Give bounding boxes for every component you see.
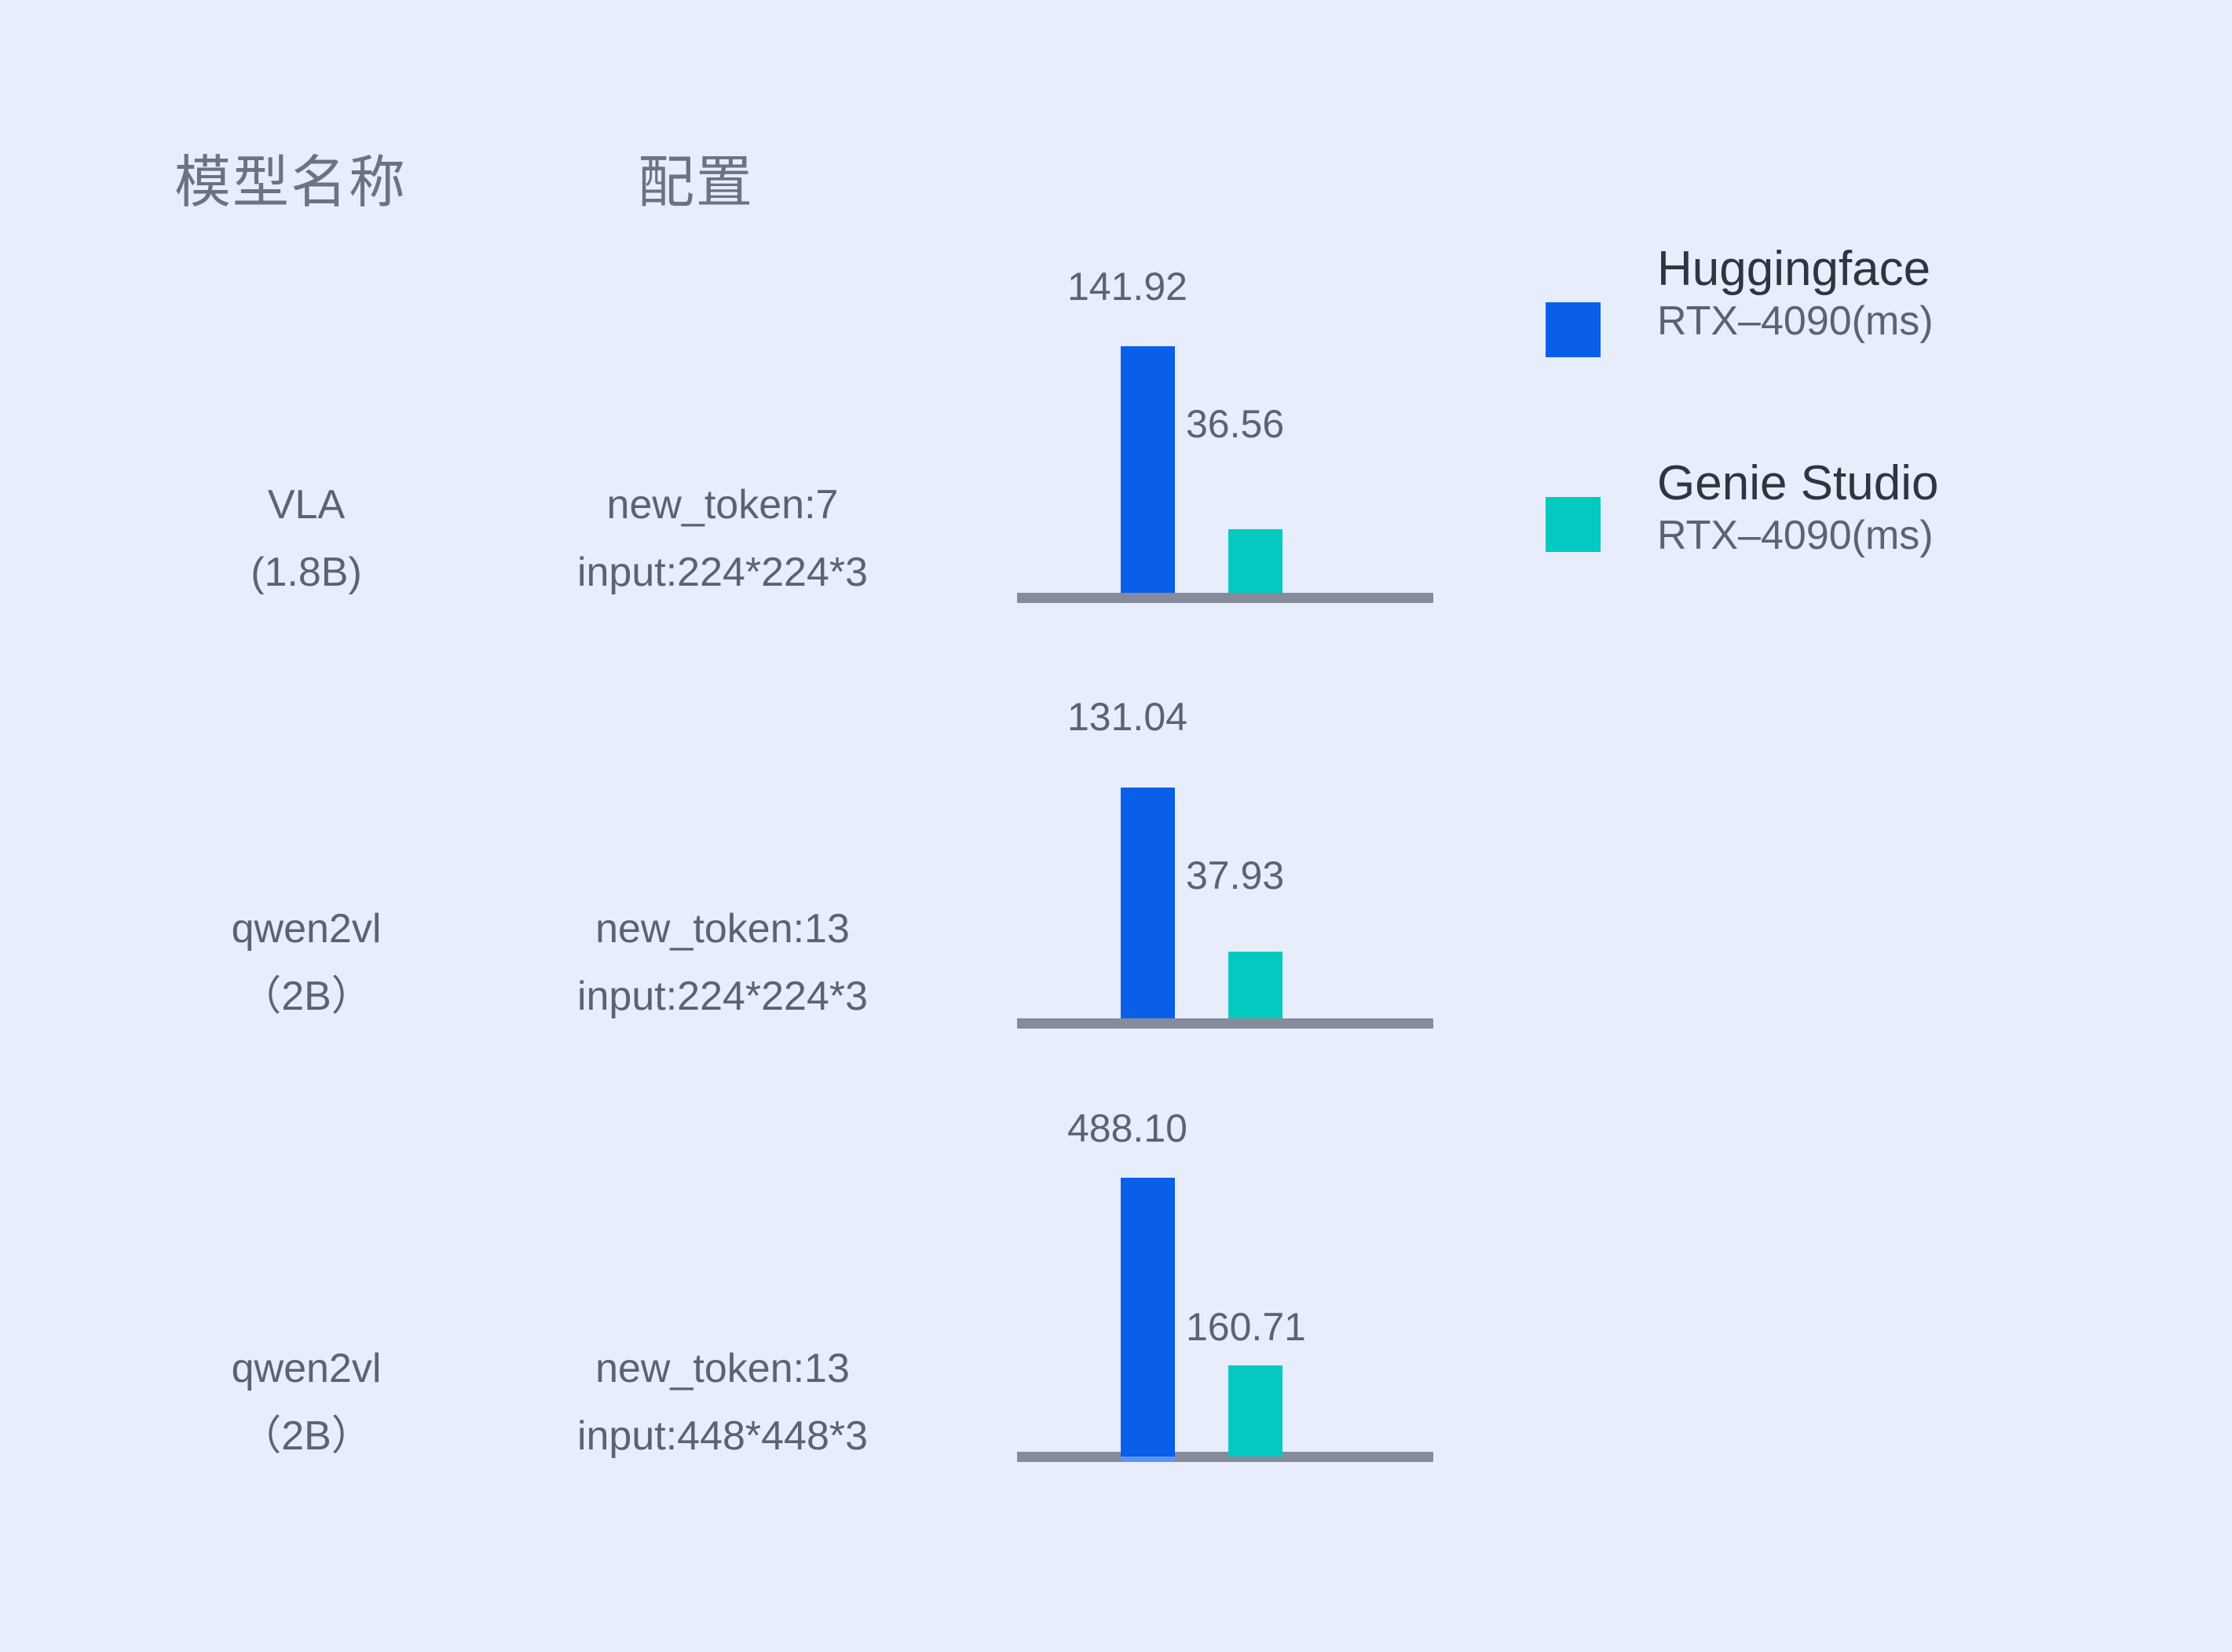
row-config-line1: new_token:7 <box>607 482 839 528</box>
legend-label-sub: RTX–4090(ms) <box>1657 295 2168 347</box>
legend-swatch-teal-icon <box>1546 497 1601 552</box>
bar-huggingface[interactable] <box>1121 346 1175 593</box>
row-config-line1: new_token:13 <box>595 906 850 952</box>
row-model-line1: qwen2vl <box>232 906 382 952</box>
bar-value-genie-studio: 160.71 <box>1186 1307 1306 1347</box>
bar-chart-row-1: 141.92 36.56 <box>1017 243 1457 605</box>
row-model-line2: (1.8B) <box>141 539 471 606</box>
row-model-line2: （2B） <box>141 1402 471 1470</box>
bar-genie-studio[interactable] <box>1228 952 1282 1018</box>
legend-swatch-blue-icon <box>1546 302 1601 357</box>
row-model-line1: VLA <box>268 482 345 528</box>
legend-label-name: Genie Studio <box>1657 458 2168 510</box>
bar-value-genie-studio: 37.93 <box>1186 856 1284 895</box>
bar-value-huggingface: 131.04 <box>1067 697 1187 736</box>
column-header-config: 配置 <box>638 136 754 218</box>
column-header-model-name: 模型名称 <box>174 136 407 218</box>
row-model-line1: qwen2vl <box>232 1346 382 1391</box>
row-config-label: new_token:7 input:224*224*3 <box>471 471 974 606</box>
bar-genie-studio[interactable] <box>1228 529 1282 593</box>
chart-baseline <box>1017 593 1433 603</box>
bar-chart-row-3: 488.10 160.71 <box>1017 1091 1457 1468</box>
chart-baseline <box>1017 1018 1433 1029</box>
table-row: VLA (1.8B) new_token:7 input:224*224*3 <box>0 471 1013 722</box>
row-model-line2: （2B） <box>141 963 471 1030</box>
bar-huggingface[interactable] <box>1121 1178 1175 1456</box>
bar-chart-row-2: 131.04 37.93 <box>1017 675 1457 1029</box>
bar-value-genie-studio: 36.56 <box>1186 404 1284 444</box>
row-config-line1: new_token:13 <box>595 1346 850 1391</box>
bar-value-huggingface: 141.92 <box>1067 267 1187 306</box>
bar-genie-studio[interactable] <box>1228 1365 1282 1456</box>
row-model-label: qwen2vl （2B） <box>141 895 471 1030</box>
bar-huggingface[interactable] <box>1121 788 1175 1018</box>
row-model-label: qwen2vl （2B） <box>141 1335 471 1470</box>
table-row: qwen2vl （2B） new_token:13 input:448*448*… <box>0 1335 1013 1586</box>
chart-baseline <box>1017 1452 1433 1462</box>
row-config-line2: input:448*448*3 <box>471 1402 974 1470</box>
row-config-label: new_token:13 input:448*448*3 <box>471 1335 974 1470</box>
row-model-label: VLA (1.8B) <box>141 471 471 606</box>
table-row: qwen2vl （2B） new_token:13 input:224*224*… <box>0 895 1013 1146</box>
row-config-line2: input:224*224*3 <box>471 963 974 1030</box>
legend-label-name: Huggingface <box>1657 243 2168 295</box>
row-config-label: new_token:13 input:224*224*3 <box>471 895 974 1030</box>
legend-label-sub: RTX–4090(ms) <box>1657 510 2168 561</box>
row-config-line2: input:224*224*3 <box>471 539 974 606</box>
bar-value-huggingface: 488.10 <box>1067 1109 1187 1148</box>
